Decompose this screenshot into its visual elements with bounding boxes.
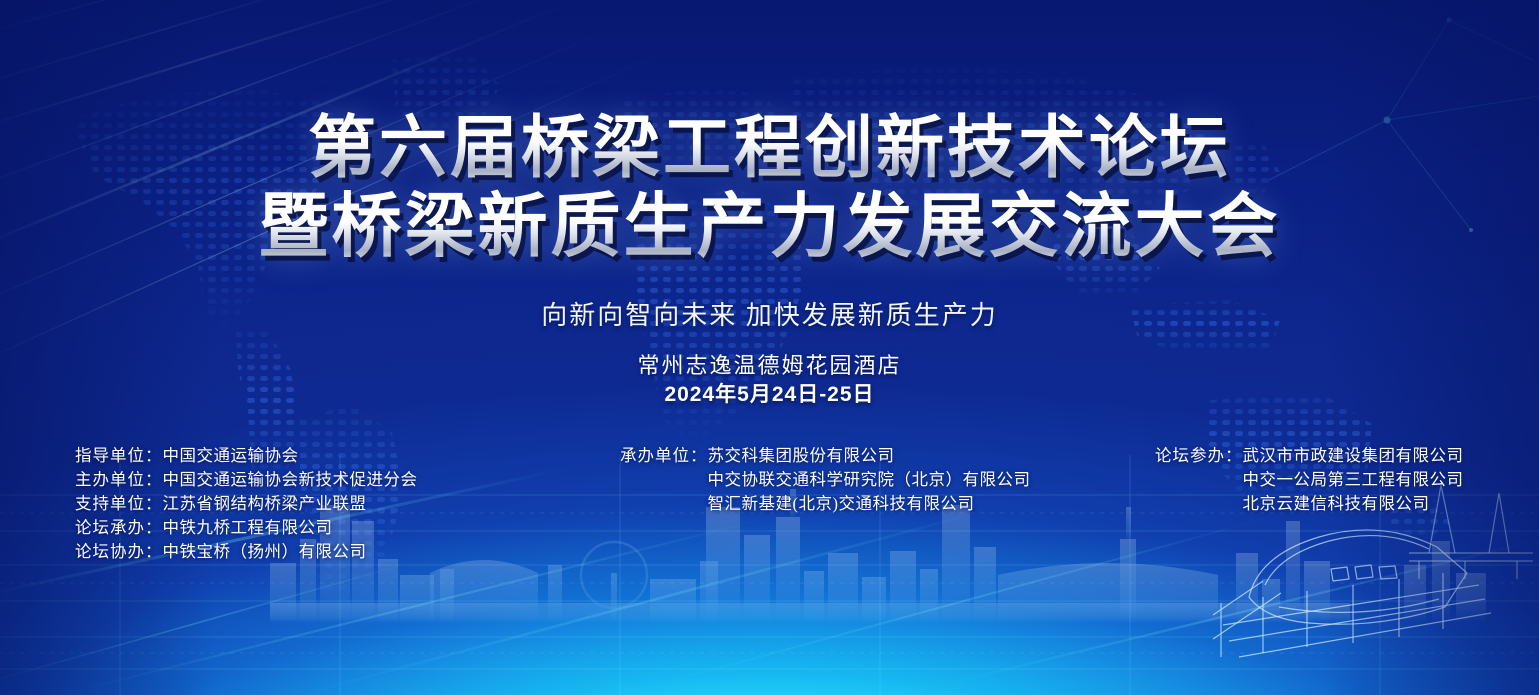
organisation-value: 中交协联交通科学研究院（北京）有限公司 xyxy=(708,468,1031,492)
conference-banner: 第六届桥梁工程创新技术论坛 暨桥梁新质生产力发展交流大会 向新向智向未来 加快发… xyxy=(0,0,1539,695)
organisation-row: 承办单位：中交协联交通科学研究院（北京）有限公司 xyxy=(620,468,1031,492)
organisation-row: 指导单位：中国交通运输协会 xyxy=(75,444,418,468)
organisation-column-center: 承办单位：苏交科集团股份有限公司 承办单位：中交协联交通科学研究院（北京）有限公… xyxy=(620,444,1031,516)
organisation-label: 支持单位： xyxy=(75,492,163,516)
organisation-value: 中交一公局第三工程有限公司 xyxy=(1243,468,1464,492)
organisation-value: 中铁宝桥（扬州）有限公司 xyxy=(163,540,367,564)
organisation-label: 承办单位： xyxy=(620,444,708,468)
venue-date: 2024年5月24日-25日 xyxy=(0,380,1539,410)
organisation-row: 主办单位：中国交通运输协会新技术促进分会 xyxy=(75,468,418,492)
organisation-value: 中铁九桥工程有限公司 xyxy=(163,516,333,540)
banner-content: 第六届桥梁工程创新技术论坛 暨桥梁新质生产力发展交流大会 向新向智向未来 加快发… xyxy=(0,0,1539,695)
organisation-label: 论坛参办： xyxy=(1155,444,1243,468)
slogan: 向新向智向未来 加快发展新质生产力 xyxy=(0,295,1539,332)
venue-place: 常州志逸温德姆花园酒店 xyxy=(0,352,1539,380)
organisation-row: 承办单位：智汇新基建(北京)交通科技有限公司 xyxy=(620,492,1031,516)
organisation-column-left: 指导单位：中国交通运输协会 主办单位：中国交通运输协会新技术促进分会 支持单位：… xyxy=(75,444,418,564)
organisation-column-right: 论坛参办：武汉市市政建设集团有限公司 论坛参办：中交一公局第三工程有限公司 论坛… xyxy=(1155,444,1464,516)
organisation-label: 主办单位： xyxy=(75,468,163,492)
organisation-label: 论坛协办： xyxy=(75,540,163,564)
organisation-value: 中国交通运输协会新技术促进分会 xyxy=(163,468,418,492)
organisation-value: 中国交通运输协会 xyxy=(163,444,299,468)
organisation-value: 苏交科集团股份有限公司 xyxy=(708,444,895,468)
venue-block: 常州志逸温德姆花园酒店 2024年5月24日-25日 xyxy=(0,352,1539,410)
organisation-row: 论坛承办：中铁九桥工程有限公司 xyxy=(75,516,418,540)
organisation-value: 智汇新基建(北京)交通科技有限公司 xyxy=(708,492,975,516)
organisation-value: 武汉市市政建设集团有限公司 xyxy=(1243,444,1464,468)
organisation-row: 支持单位：江苏省钢结构桥梁产业联盟 xyxy=(75,492,418,516)
organisation-label: 指导单位： xyxy=(75,444,163,468)
organisation-value: 北京云建信科技有限公司 xyxy=(1243,492,1430,516)
main-title-line-1: 第六届桥梁工程创新技术论坛 xyxy=(0,108,1539,188)
organisation-value: 江苏省钢结构桥梁产业联盟 xyxy=(163,492,367,516)
organisations-block: 指导单位：中国交通运输协会 主办单位：中国交通运输协会新技术促进分会 支持单位：… xyxy=(0,444,1539,564)
organisation-row: 论坛参办：北京云建信科技有限公司 xyxy=(1155,492,1464,516)
organisation-row: 论坛参办：武汉市市政建设集团有限公司 xyxy=(1155,444,1464,468)
organisation-row: 论坛参办：中交一公局第三工程有限公司 xyxy=(1155,468,1464,492)
main-title-line-2: 暨桥梁新质生产力发展交流大会 xyxy=(0,188,1539,268)
organisation-row: 论坛协办：中铁宝桥（扬州）有限公司 xyxy=(75,540,418,564)
title-block: 第六届桥梁工程创新技术论坛 暨桥梁新质生产力发展交流大会 xyxy=(0,108,1539,268)
organisation-row: 承办单位：苏交科集团股份有限公司 xyxy=(620,444,1031,468)
organisation-label: 论坛承办： xyxy=(75,516,163,540)
